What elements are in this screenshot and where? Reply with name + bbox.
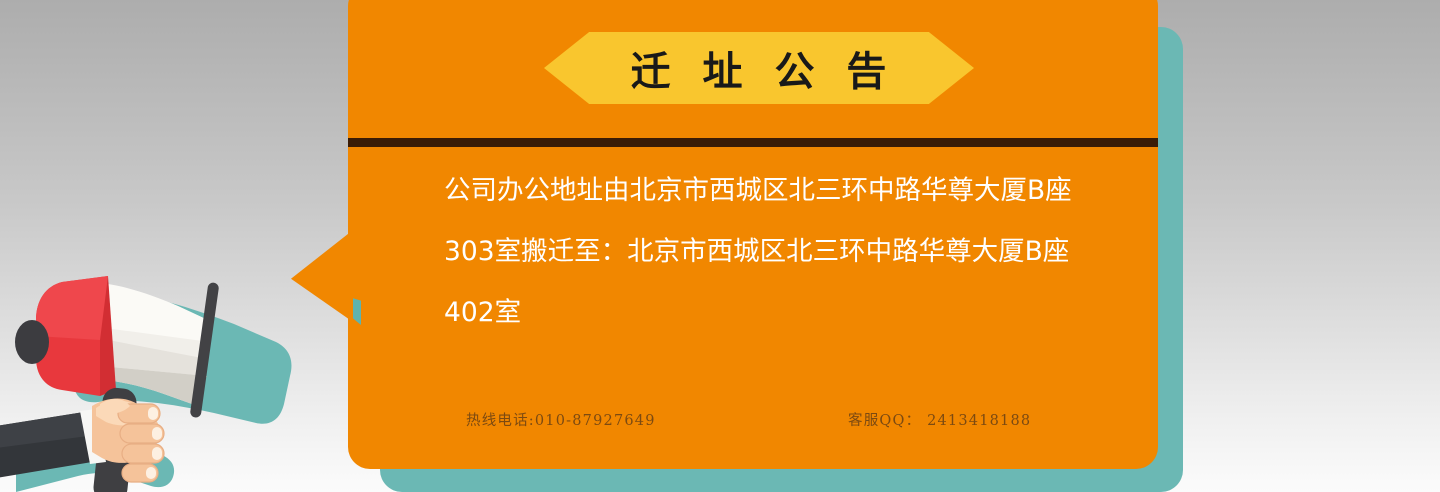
qq-text: 客服QQ： 2413418188 <box>848 409 1031 430</box>
announcement-body: 公司办公地址由北京市西城区北三环中路华尊大厦B座303室搬迁至：北京市西城区北三… <box>444 160 1094 343</box>
contact-footer: 热线电话:010-87927649 客服QQ： 2413418188 <box>466 409 1086 430</box>
page-title: 迁 址 公 告 <box>544 32 974 104</box>
announcement-card: 迁 址 公 告 公司办公地址由北京市西城区北三环中路华尊大厦B座303室搬迁至：… <box>348 0 1158 469</box>
divider <box>348 138 1158 147</box>
hotline-text: 热线电话:010-87927649 <box>466 409 848 430</box>
title-banner: 迁 址 公 告 <box>544 32 974 104</box>
poster-canvas: 迁 址 公 告 公司办公地址由北京市西城区北三环中路华尊大厦B座303室搬迁至：… <box>0 0 1440 492</box>
megaphone-icon <box>0 190 326 492</box>
megaphone-base <box>15 276 116 396</box>
